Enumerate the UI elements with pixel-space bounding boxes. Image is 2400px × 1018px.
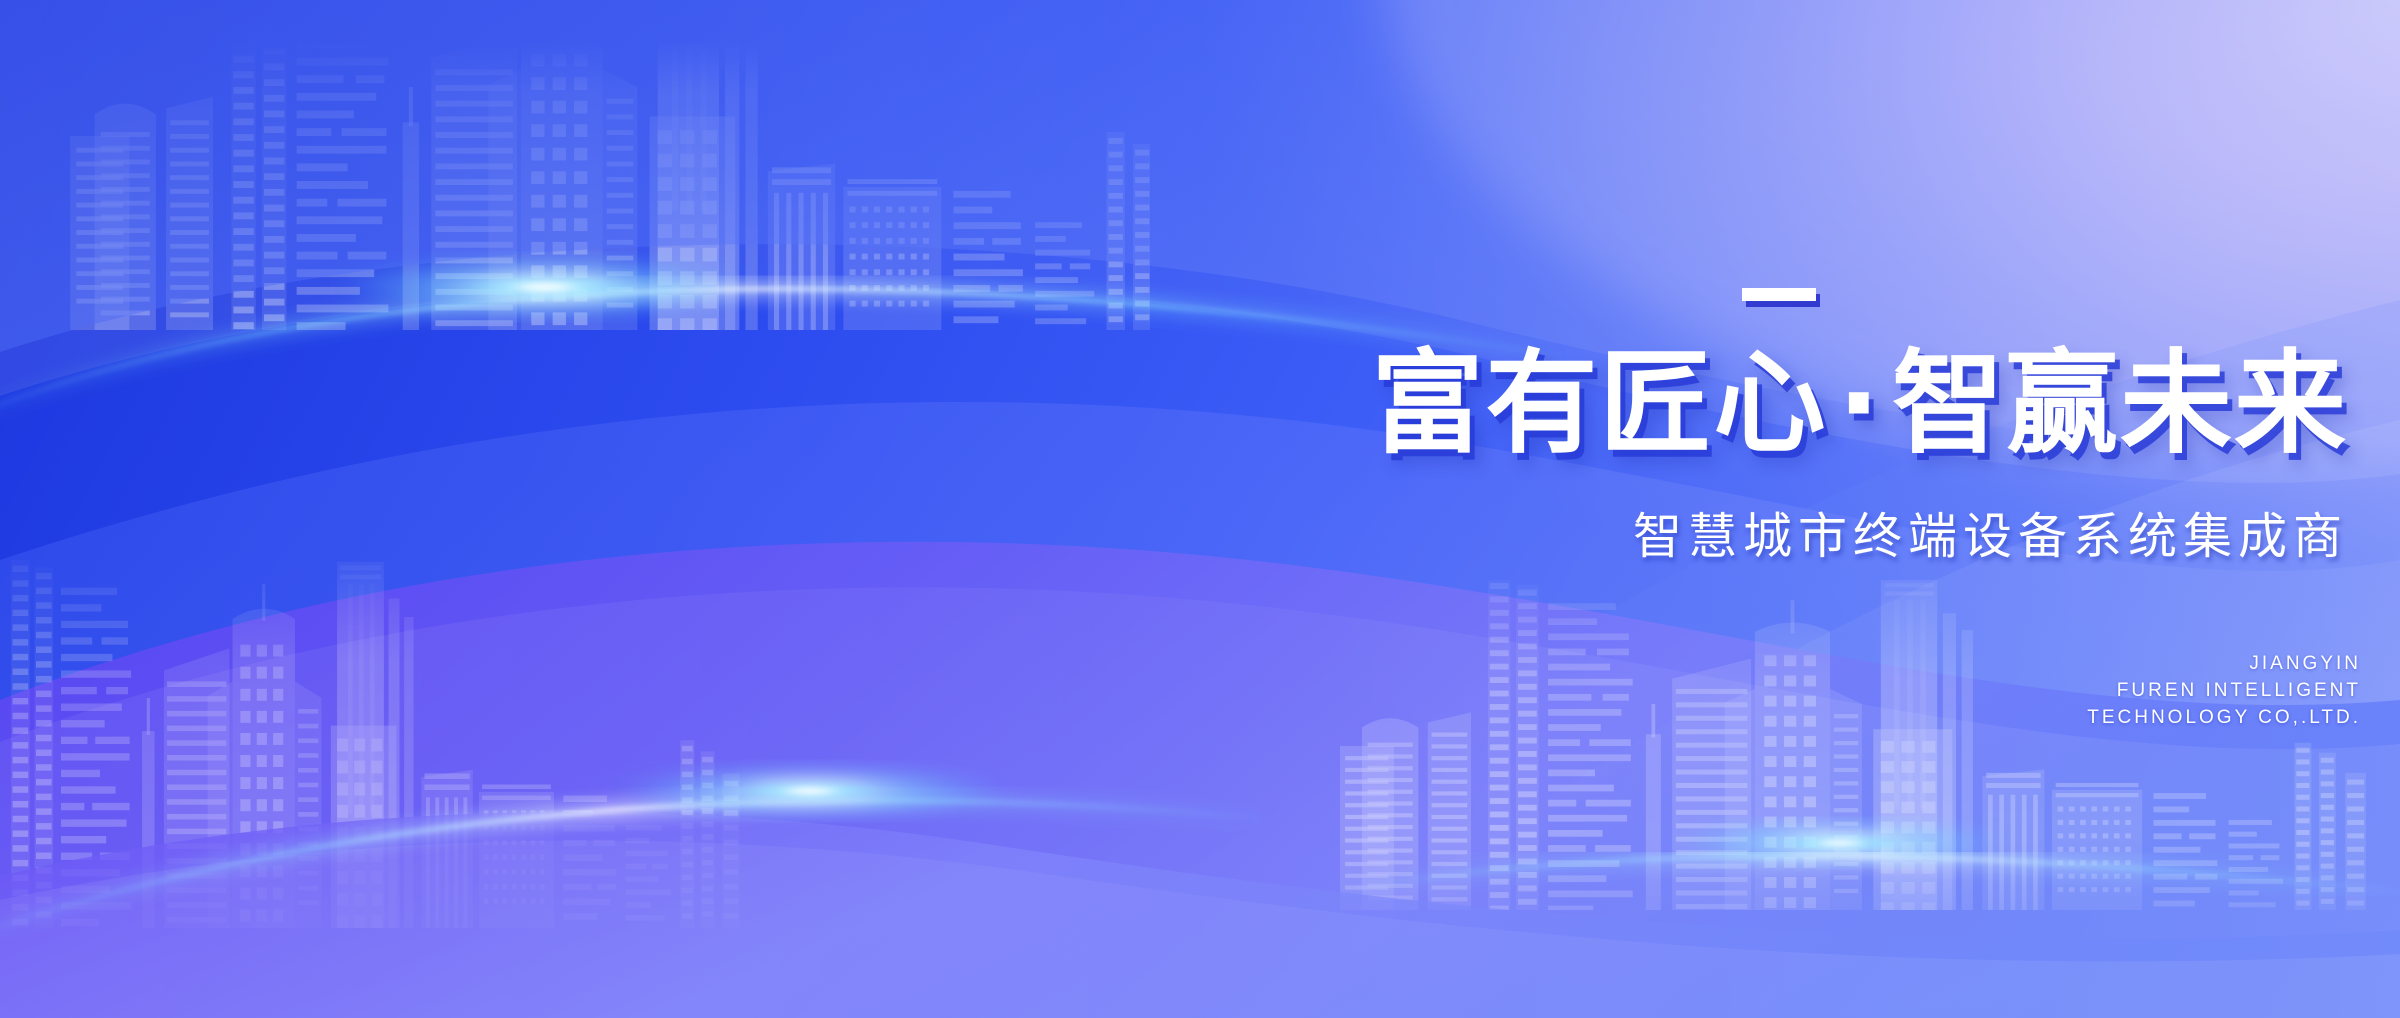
promotional-banner: 富有匠心·智赢未来 智慧城市终端设备系统集成商 JIANGYIN FUREN I…: [0, 0, 2400, 1018]
background-artwork: [0, 0, 2400, 1018]
